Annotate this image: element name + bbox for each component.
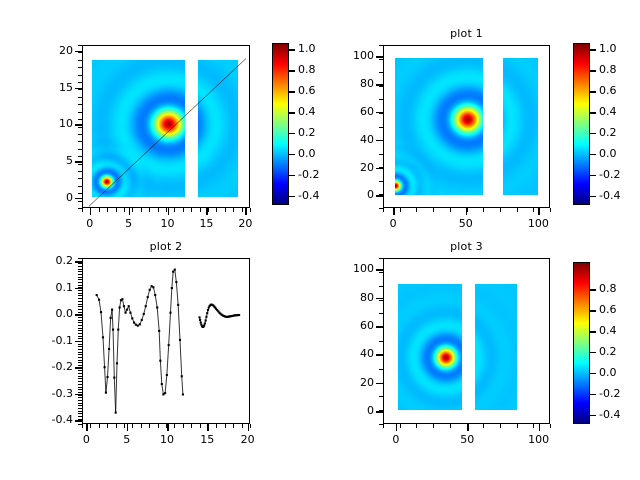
xtick-minor <box>400 424 401 428</box>
yticklabel: 0 <box>328 404 374 417</box>
xtick-minor <box>416 424 417 428</box>
colorbar-ticklabel: 0.4 <box>599 324 617 337</box>
plot-title-plot3: plot 3 <box>383 240 550 253</box>
xtick-major <box>539 424 541 431</box>
xtick-minor <box>550 424 551 428</box>
colorbar-ticklabel: 0.0 <box>599 366 617 379</box>
colorbar-ticklabel: -0.4 <box>599 408 620 421</box>
xtick-minor <box>500 424 501 428</box>
ytick-major <box>376 269 383 271</box>
colorbar-tick <box>590 352 596 354</box>
ytick-minor <box>379 424 383 425</box>
yticklabel: 80 <box>328 291 374 304</box>
xtick-minor <box>433 424 434 428</box>
colorbar-ticklabel: 0.8 <box>599 282 617 295</box>
colorbar-ticklabel: 0.6 <box>599 303 617 316</box>
panel-plot3: plot 3050100020406080100-0.4-0.20.00.20.… <box>0 0 640 480</box>
colorbar-plot3 <box>573 262 590 424</box>
xtick-minor <box>483 424 484 428</box>
yticklabel: 100 <box>328 262 374 275</box>
colorbar-gradient-plot3 <box>574 263 589 423</box>
ytick-major <box>376 326 383 328</box>
xticklabel: 100 <box>519 433 559 446</box>
ytick-major <box>376 383 383 385</box>
colorbar-tick <box>590 310 596 312</box>
yticklabel: 40 <box>328 347 374 360</box>
ytick-minor <box>379 258 383 259</box>
ytick-minor <box>379 341 383 342</box>
ytick-minor <box>379 272 383 273</box>
axes-frame-plot3 <box>383 258 550 424</box>
colorbar-ticklabel: 0.2 <box>599 345 617 358</box>
xtick-major <box>396 424 398 431</box>
yticklabel: 60 <box>328 319 374 332</box>
ytick-minor <box>379 300 383 301</box>
xtick-major <box>467 424 469 431</box>
ytick-major <box>376 354 383 356</box>
colorbar-tick <box>590 373 596 375</box>
ytick-minor <box>379 369 383 370</box>
ytick-major <box>376 298 383 300</box>
xtick-minor <box>450 424 451 428</box>
xtick-minor <box>517 424 518 428</box>
figure-canvas: 0510152005101520-0.4-0.20.00.20.40.60.81… <box>0 0 640 480</box>
yticklabel: 20 <box>328 376 374 389</box>
xticklabel: 0 <box>376 433 416 446</box>
ytick-minor <box>379 286 383 287</box>
colorbar-tick <box>590 415 596 417</box>
ytick-minor <box>379 396 383 397</box>
colorbar-tick <box>590 394 596 396</box>
colorbar-ticklabel: -0.2 <box>599 387 620 400</box>
xtick-minor <box>533 424 534 428</box>
xtick-minor <box>383 424 384 428</box>
xticklabel: 50 <box>447 433 487 446</box>
ytick-minor <box>379 313 383 314</box>
colorbar-tick <box>590 289 596 291</box>
colorbar-tick <box>590 331 596 333</box>
ytick-major <box>376 411 383 413</box>
